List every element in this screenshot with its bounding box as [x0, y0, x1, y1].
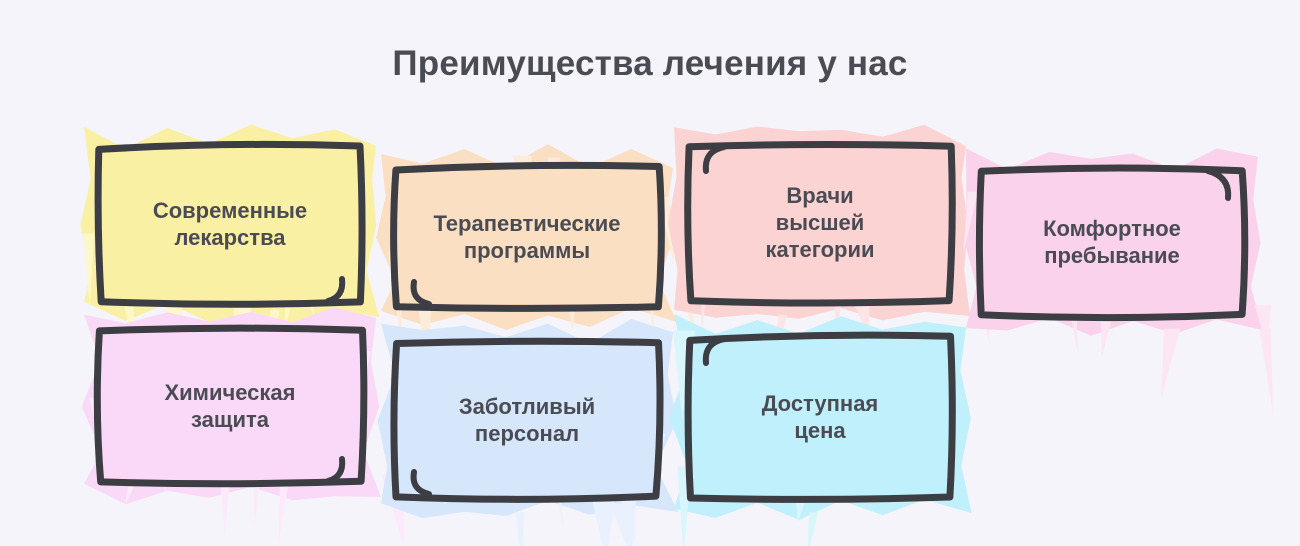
benefit-card-komfortnoe-prebyvanie[interactable]: Комфортное пребывание — [980, 170, 1244, 316]
card-sketch-shape-himicheskaya-zashchita — [98, 330, 362, 483]
card-inner-fill — [97, 328, 364, 484]
benefit-card-terapevticheskie-programmy[interactable]: Терапевтические программы — [395, 168, 659, 308]
card-inner-fill — [979, 168, 1244, 318]
card-inner-fill — [394, 165, 662, 308]
benefit-card-sovremennye-lekarstva[interactable]: Современные лекарства — [98, 147, 362, 303]
card-sketch-shape-terapevticheskie-programmy — [395, 168, 659, 308]
benefit-card-zabotlivyj-personal[interactable]: Заботливый персонал — [395, 343, 659, 498]
page-title: Преимущества лечения у нас — [0, 44, 1300, 84]
card-inner-fill — [98, 144, 362, 304]
infographic-canvas: Преимущества лечения у нас Современные л… — [0, 0, 1300, 546]
benefit-card-dostupnaya-cena[interactable]: Доступная цена — [688, 337, 952, 499]
benefit-card-vrachi-vysshej-kategorii[interactable]: Врачи высшей категории — [688, 145, 952, 302]
card-inner-fill — [394, 341, 660, 499]
card-sketch-shape-vrachi-vysshej-kategorii — [688, 145, 952, 302]
card-sketch-shape-sovremennye-lekarstva — [98, 147, 362, 303]
card-inner-fill — [688, 144, 953, 303]
benefit-card-himicheskaya-zashchita[interactable]: Химическая защита — [98, 330, 362, 483]
card-sketch-shape-komfortnoe-prebyvanie — [980, 170, 1244, 316]
card-inner-fill — [688, 335, 952, 499]
card-sketch-shape-dostupnaya-cena — [688, 337, 952, 499]
card-sketch-shape-zabotlivyj-personal — [395, 343, 659, 498]
